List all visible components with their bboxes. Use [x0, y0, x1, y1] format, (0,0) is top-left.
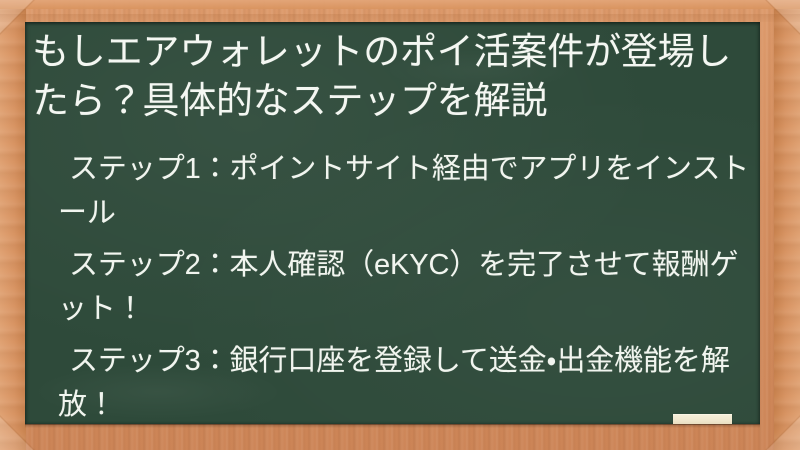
slide-title: もしエアウォレットのポイ活案件が登場したら？具体的なステップを解説: [32, 27, 732, 125]
steps-list: ステップ1：ポイントサイト経由でアプリをインストール ステップ2：本人確認（eK…: [47, 147, 753, 424]
chalkboard-surface: もしエアウォレットのポイ活案件が登場したら？具体的なステップを解説 ステップ1：…: [25, 22, 760, 424]
step-item-2: ステップ2：本人確認（eKYC）を完了させて報酬ゲット！: [47, 243, 753, 331]
frame-top-shade: [0, 14, 800, 22]
chalkboard-slide: もしエアウォレットのポイ活案件が登場したら？具体的なステップを解説 ステップ1：…: [0, 0, 800, 450]
step-item-3: ステップ3：銀行口座を登録して送金・出金機能を解放！: [47, 339, 753, 424]
chalk-eraser-icon: [673, 414, 732, 424]
board-content: もしエアウォレットのポイ活案件が登場したら？具体的なステップを解説 ステップ1：…: [25, 22, 760, 424]
board-bottom-shadow: [25, 424, 760, 428]
frame-rail-left: [0, 0, 26, 450]
frame-rail-right: [774, 0, 800, 450]
frame-top-highlight: [0, 0, 800, 9]
step-item-1: ステップ1：ポイントサイト経由でアプリをインストール: [47, 147, 753, 235]
